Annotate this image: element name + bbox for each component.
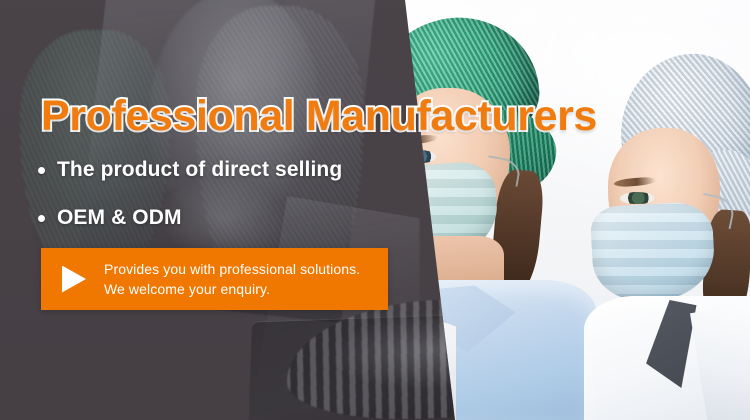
promo-banner: Professional Manufacturers The product o… — [0, 0, 750, 420]
page-title: Professional Manufacturers — [41, 92, 597, 141]
list-item-label: The product of direct selling — [57, 158, 342, 182]
cta-banner[interactable]: Provides you with professional solutions… — [41, 248, 388, 310]
feature-list: The product of direct selling OEM & ODM — [38, 152, 342, 248]
play-triangle-icon — [62, 266, 86, 293]
bullet-dot-icon — [38, 167, 45, 174]
cta-line-1: Provides you with professional solutions… — [104, 259, 360, 279]
bullet-dot-icon — [38, 215, 45, 222]
cta-line-2: We welcome your enquiry. — [104, 279, 360, 299]
cta-text-block: Provides you with professional solutions… — [104, 259, 360, 299]
list-item: The product of direct selling — [38, 152, 342, 188]
list-item-label: OEM & ODM — [57, 206, 182, 230]
list-item: OEM & ODM — [38, 200, 342, 236]
nurse-right-eye — [620, 192, 654, 204]
